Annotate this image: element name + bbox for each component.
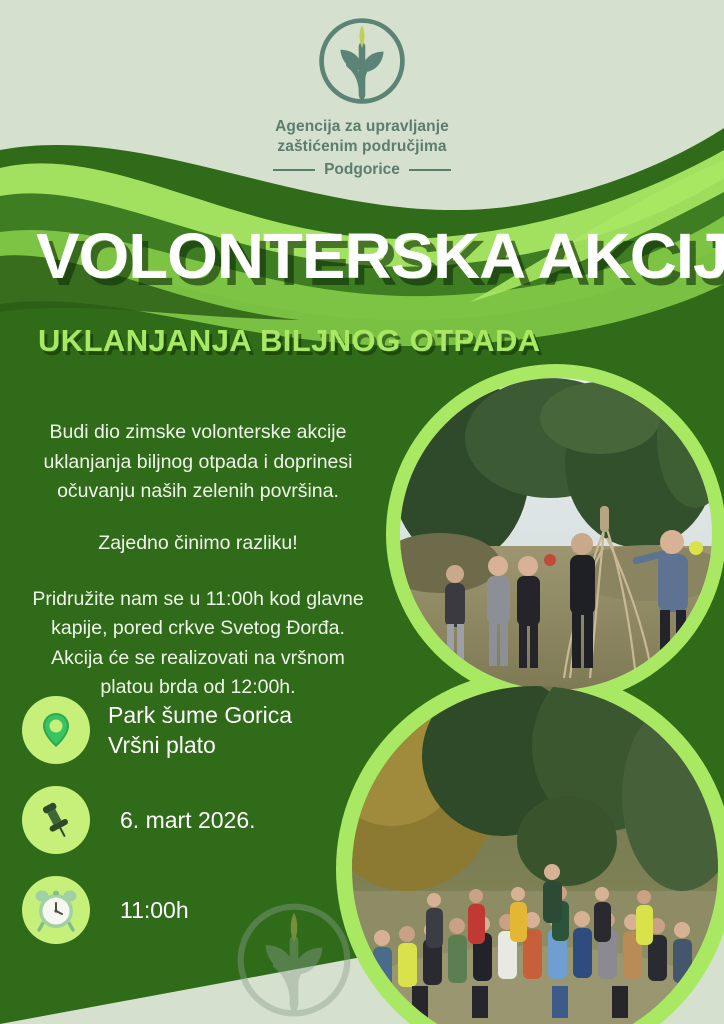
paragraph2-line1: Pridružite nam se u 11:00h kod glavne — [18, 585, 378, 615]
logo-city-label: Podgorice — [324, 161, 400, 179]
event-details: Park šume Gorica Vršni plato 6. mart 202… — [22, 696, 292, 944]
paragraph1-line1: Budi dio zimske volonterske akcije — [18, 418, 378, 448]
page-subtitle: UKLANJANJA BILJNOG OTPADA — [38, 325, 541, 356]
detail-row-date: 6. mart 2026. — [22, 786, 292, 854]
paragraph1-line2: uklanjanja biljnog otpada i doprinesi — [18, 448, 378, 478]
detail-location-text: Park šume Gorica Vršni plato — [108, 700, 292, 761]
alarm-clock-icon — [22, 876, 90, 944]
location-pin-icon — [22, 696, 90, 764]
poster-root: Agencija za upravljanje zaštićenim podru… — [0, 0, 724, 1024]
detail-row-time: 11:00h — [22, 876, 292, 944]
detail-date-text: 6. mart 2026. — [120, 805, 256, 835]
photo-volunteers-clearing-brush — [400, 378, 712, 690]
detail-time-text: 11:00h — [120, 895, 189, 925]
paragraph2: Pridružite nam se u 11:00h kod glavne ka… — [18, 585, 378, 704]
logo-city-row: Podgorice — [273, 161, 451, 179]
copy-spacer — [18, 507, 378, 529]
plant-leaf-circle-logo-icon — [315, 14, 409, 108]
logo-line-2: zaštićenim područjima — [275, 137, 449, 157]
agency-logo: Agencija za upravljanje zaštićenim podru… — [0, 14, 724, 179]
body-copy: Budi dio zimske volonterske akcije uklan… — [18, 418, 378, 703]
detail-row-location: Park šume Gorica Vršni plato — [22, 696, 292, 764]
slogan: Zajedno činimo razliku! — [18, 529, 378, 559]
paragraph1-line3: očuvanju naših zelenih površina. — [18, 477, 378, 507]
paragraph2-line2: kapije, pored crkve Svetog Đorđa. — [18, 614, 378, 644]
logo-dash-right — [409, 169, 451, 171]
logo-text-block: Agencija za upravljanje zaštićenim podru… — [275, 117, 449, 158]
page-title: VOLONTERSKA AKCIJA — [36, 224, 724, 288]
logo-dash-left — [273, 169, 315, 171]
paragraph2-line3: Akcija će se realizovati na vršnom — [18, 644, 378, 674]
pushpin-icon — [22, 786, 90, 854]
logo-line-1: Agencija za upravljanje — [275, 117, 449, 137]
